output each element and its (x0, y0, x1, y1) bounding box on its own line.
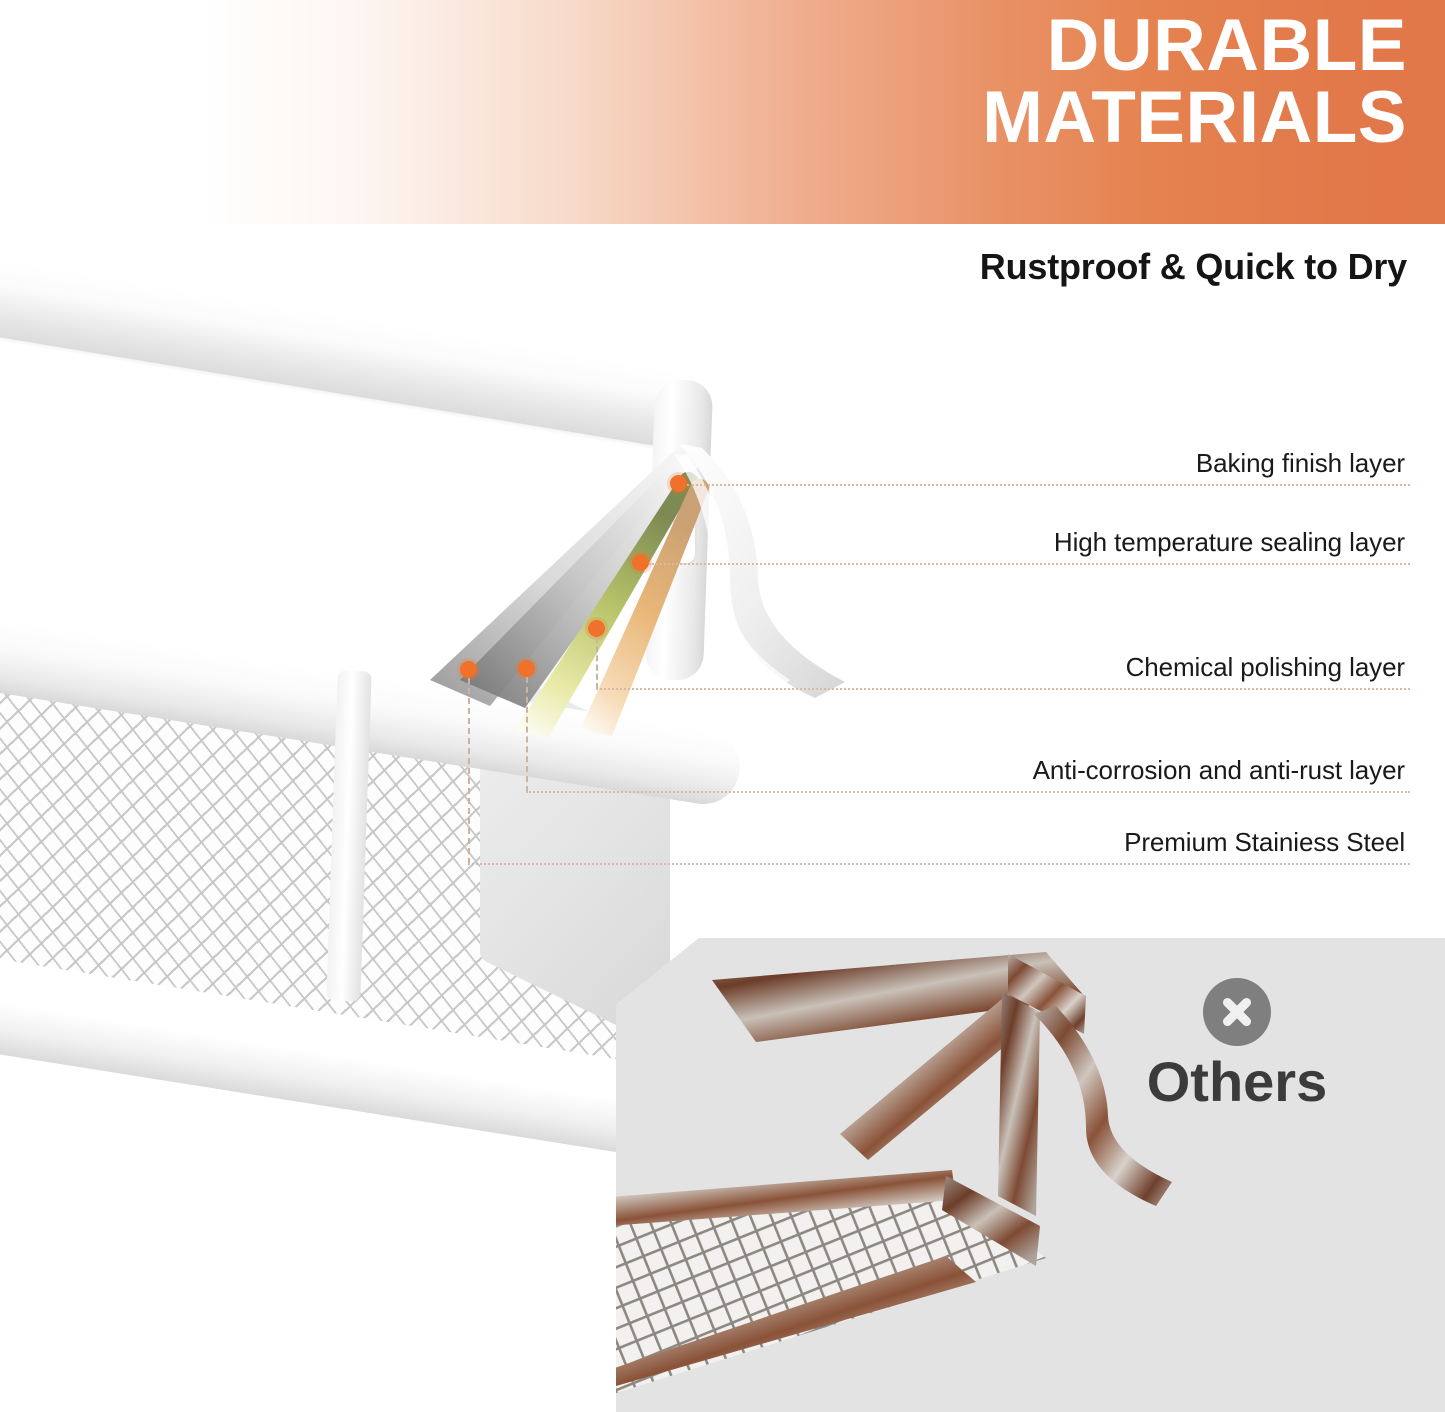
callout-dot-5 (460, 661, 477, 678)
callout-drop-3 (596, 637, 598, 689)
others-comparison-panel: Others (616, 938, 1445, 1412)
callout-label-high-temp-sealing: High temperature sealing layer (785, 527, 1405, 558)
callout-leader-5 (468, 863, 1410, 865)
others-label: Others (1087, 1054, 1387, 1110)
callout-dot-3 (588, 620, 605, 637)
x-mark-icon (1203, 978, 1271, 1046)
callout-drop-4 (526, 677, 528, 792)
callout-drop-5 (468, 678, 470, 864)
others-badge: Others (1087, 978, 1387, 1110)
subtitle: Rustproof & Quick to Dry (767, 246, 1407, 288)
basket-top-rail (0, 240, 715, 454)
page-title: DURABLE MATERIALS (787, 10, 1407, 153)
basket-post-slot (673, 495, 697, 565)
callout-leader-1 (687, 484, 1410, 486)
callout-leader-4 (526, 791, 1410, 793)
title-line-1: DURABLE (787, 10, 1407, 82)
callout-label-baking-finish: Baking finish layer (785, 448, 1405, 479)
callout-leader-2 (649, 563, 1410, 565)
callout-label-premium-steel: Premium Stainiess Steel (785, 827, 1405, 858)
title-line-2: MATERIALS (787, 82, 1407, 154)
infographic-page: DURABLE MATERIALS Rustproof & Quick to D… (0, 0, 1445, 1412)
header-banner: DURABLE MATERIALS (0, 0, 1445, 224)
callout-label-chemical-polishing: Chemical polishing layer (785, 652, 1405, 683)
callout-dot-2 (632, 554, 649, 571)
callout-leader-3 (596, 688, 1410, 690)
callout-label-anti-corrosion: Anti-corrosion and anti-rust layer (785, 755, 1405, 786)
callout-dot-1 (670, 475, 687, 492)
callout-dot-4 (518, 660, 535, 677)
rusty-vertical-post (998, 992, 1040, 1216)
